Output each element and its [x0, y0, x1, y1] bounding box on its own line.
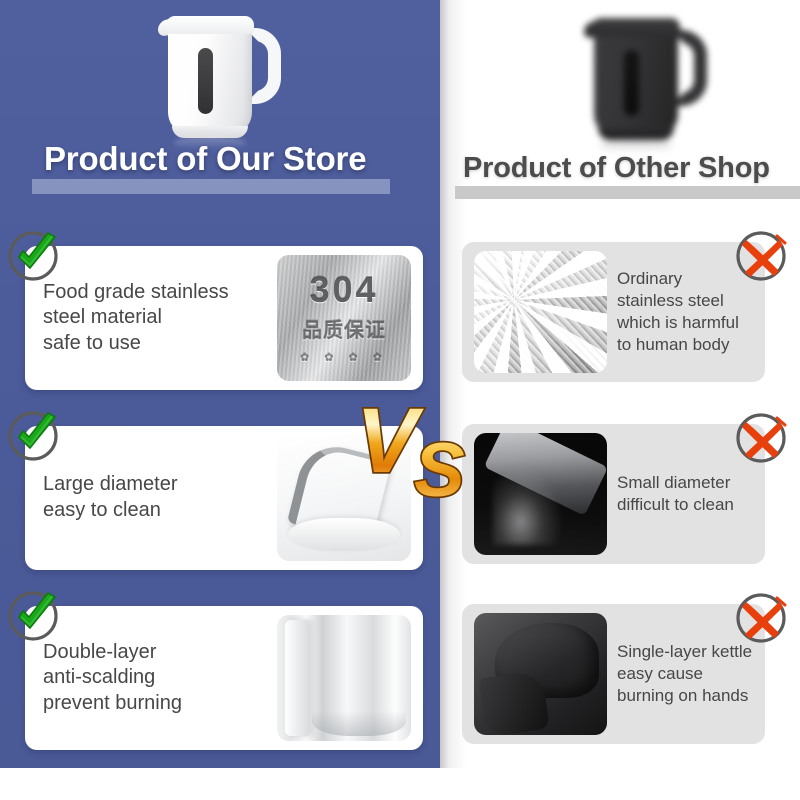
steel-grade-number: 304: [309, 272, 378, 308]
orange-cross-circle-icon: [733, 226, 791, 284]
single-wall-black-kettle-thumbnail: [474, 613, 607, 735]
right-title-underline: [455, 186, 800, 199]
double-wall-steel-thumbnail: [277, 615, 411, 741]
right-column-title: Product of Other Shop: [463, 152, 770, 185]
right-feature-card: Ordinary stainless steel which is harmfu…: [462, 242, 765, 382]
left-feature-text: Food grade stainless steel material safe…: [39, 280, 271, 357]
kettle-lid: [166, 16, 254, 34]
green-check-circle-icon: [6, 408, 64, 466]
right-feature-text: Small diameter difficult to clean: [607, 472, 755, 516]
other-shop-kettle-image: [578, 8, 713, 140]
orange-cross-circle-icon: [733, 588, 791, 646]
kettle-lid: [592, 18, 680, 36]
orange-cross-circle-icon: [733, 408, 791, 466]
green-check-circle-icon: [6, 228, 64, 286]
versus-gold-badge-icon: V S: [352, 392, 502, 520]
left-title-underline: [32, 179, 390, 194]
comparison-infographic: Product of Our Store Product of Other Sh…: [0, 0, 800, 800]
steel-304-stamp-thumbnail: 304 品质保证 ✿ ✿ ✿ ✿: [277, 255, 411, 381]
left-feature-card: Food grade stainless steel material safe…: [25, 246, 423, 390]
steel-stamp-cjk-text: 品质保证: [302, 314, 386, 343]
left-feature-text: Large diameter easy to clean: [39, 472, 271, 523]
right-feature-text: Single-layer kettle easy cause burning o…: [607, 641, 755, 707]
right-feature-card: Small diameter difficult to clean: [462, 424, 765, 564]
left-feature-card: Double-layer anti-scalding prevent burni…: [25, 606, 423, 750]
rough-ordinary-steel-thumbnail: [474, 251, 607, 373]
our-store-kettle-image: [152, 6, 292, 146]
steel-stamp-stars: ✿ ✿ ✿ ✿: [300, 351, 388, 364]
kettle-water-window: [198, 48, 213, 114]
kettle-water-window: [624, 50, 639, 116]
left-feature-text: Double-layer anti-scalding prevent burni…: [39, 640, 271, 717]
vs-letter-s: S: [414, 428, 465, 513]
left-column-title: Product of Our Store: [44, 140, 366, 178]
right-feature-card: Single-layer kettle easy cause burning o…: [462, 604, 765, 744]
green-check-circle-icon: [6, 588, 64, 646]
kettle-reflection: [600, 138, 672, 152]
